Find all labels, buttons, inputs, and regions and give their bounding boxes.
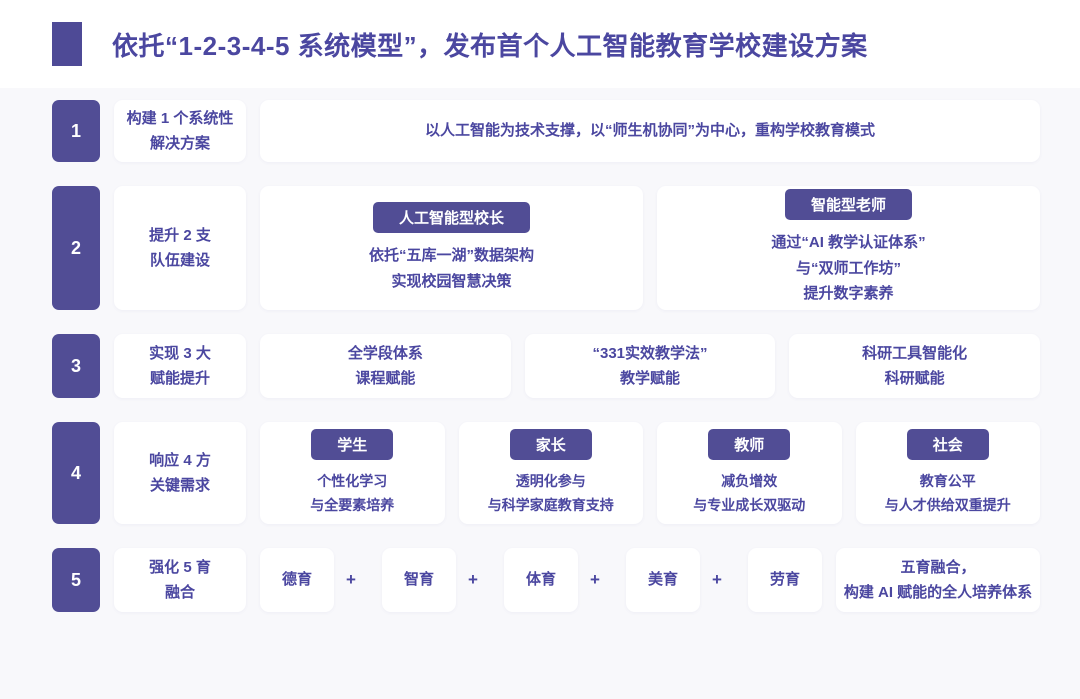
row-2-card-principal[interactable]: 人工智能型校长 依托“五库一湖”数据架构 实现校园智慧决策 [260,186,643,310]
row-number-badge-2: 2 [52,186,100,310]
plus-separator-2: + [456,548,490,612]
card-line1: 依托“五库一湖”数据架构 [369,243,534,269]
purple-square-mark-icon [52,22,82,66]
card-line1: 教育公平 [920,470,976,494]
row-1-content-card[interactable]: 以人工智能为技术支撑，以“师生机协同”为中心，重构学校教育模式 [260,100,1040,162]
page-header: 依托“1-2-3-4-5 系统模型”，发布首个人工智能教育学校建设方案 [0,0,1080,88]
row-4-card-parent[interactable]: 家长 透明化参与 与科学家庭教育支持 [459,422,644,524]
card-pill-heading: 教师 [708,429,790,460]
row-4-card-society[interactable]: 社会 教育公平 与人才供给双重提升 [856,422,1041,524]
row-label-line2: 关键需求 [150,473,210,499]
card-line2: 科研赋能 [885,366,945,392]
row-label-line2: 解决方案 [150,131,210,157]
row-2-card-teacher[interactable]: 智能型老师 通过“AI 教学认证体系” 与“双师工作坊” 提升数字素养 [657,186,1040,310]
row-number-badge-1: 1 [52,100,100,162]
item-label: 美育 [648,567,678,593]
card-line2: 与科学家庭教育支持 [488,494,614,518]
row-label-card-2[interactable]: 提升 2 支 队伍建设 [114,186,246,310]
item-label: 体育 [526,567,556,593]
row-label-line1: 构建 1 个系统性 [127,106,234,132]
row-label-line1: 响应 4 方 [149,448,211,474]
model-row-3: 3 实现 3 大 赋能提升 全学段体系 课程赋能 “331实效教学法” 教学赋能… [52,322,1040,410]
card-pill-heading: 智能型老师 [785,189,912,220]
card-line1: 透明化参与 [516,470,586,494]
card-line2: 与“双师工作坊” [796,256,901,282]
model-rows: 1 构建 1 个系统性 解决方案 以人工智能为技术支撑，以“师生机协同”为中心，… [0,88,1080,624]
card-pill-heading: 学生 [311,429,393,460]
row-label-card-4[interactable]: 响应 4 方 关键需求 [114,422,246,524]
row-label-card-3[interactable]: 实现 3 大 赋能提升 [114,334,246,398]
page-title: 依托“1-2-3-4-5 系统模型”，发布首个人工智能教育学校建设方案 [112,26,868,63]
card-line3: 提升数字素养 [803,281,893,307]
item-label: 智育 [404,567,434,593]
card-line2: 与人才供给双重提升 [885,494,1011,518]
row-5-item-moral[interactable]: 德育 [260,548,334,612]
row-4-card-teacher[interactable]: 教师 减负增效 与专业成长双驱动 [657,422,842,524]
row-5-item-intellectual[interactable]: 智育 [382,548,456,612]
row-3-card-teaching[interactable]: “331实效教学法” 教学赋能 [525,334,776,398]
item-label: 劳育 [770,567,800,593]
item-label: 德育 [282,567,312,593]
card-line2: 与全要素培养 [310,494,394,518]
card-line1: 减负增效 [721,470,777,494]
card-line2: 教学赋能 [620,366,680,392]
card-pill-heading: 人工智能型校长 [373,202,530,233]
card-line2: 实现校园智慧决策 [391,269,511,295]
row-5-item-labor[interactable]: 劳育 [748,548,822,612]
row-number-badge-4: 4 [52,422,100,524]
card-pill-heading: 社会 [907,429,989,460]
row-3-card-research[interactable]: 科研工具智能化 科研赋能 [789,334,1040,398]
row-3-card-curriculum[interactable]: 全学段体系 课程赋能 [260,334,511,398]
summary-line1: 五育融合， [900,555,975,581]
row-4-card-student[interactable]: 学生 个性化学习 与全要素培养 [260,422,445,524]
card-line1: 全学段体系 [348,341,423,367]
row-label-card-5[interactable]: 强化 5 育 融合 [114,548,246,612]
row-label-line1: 实现 3 大 [149,341,211,367]
card-line1: 通过“AI 教学认证体系” [771,230,925,256]
plus-separator-1: + [334,548,368,612]
summary-line2: 构建 AI 赋能的全人培养体系 [844,580,1032,606]
row-1-content-line1: 以人工智能为技术支撑，以“师生机协同”为中心，重构学校教育模式 [425,118,875,144]
card-line2: 课程赋能 [355,366,415,392]
page-root: 依托“1-2-3-4-5 系统模型”，发布首个人工智能教育学校建设方案 1 构建… [0,0,1080,699]
model-row-2: 2 提升 2 支 队伍建设 人工智能型校长 依托“五库一湖”数据架构 实现校园智… [52,174,1040,322]
row-number-badge-3: 3 [52,334,100,398]
row-5-item-aesthetic[interactable]: 美育 [626,548,700,612]
card-line2: 与专业成长双驱动 [693,494,805,518]
model-row-5: 5 强化 5 育 融合 德育 + 智育 + 体育 + 美育 [52,536,1040,624]
model-row-4: 4 响应 4 方 关键需求 学生 个性化学习 与全要素培养 家长 透明化参与 与… [52,410,1040,536]
row-5-item-physical[interactable]: 体育 [504,548,578,612]
model-row-1: 1 构建 1 个系统性 解决方案 以人工智能为技术支撑，以“师生机协同”为中心，… [52,88,1040,174]
card-line1: “331实效教学法” [592,341,707,367]
row-label-line2: 融合 [165,580,195,606]
card-line1: 科研工具智能化 [862,341,967,367]
row-label-line2: 队伍建设 [150,248,210,274]
plus-separator-3: + [578,548,612,612]
row-number-badge-5: 5 [52,548,100,612]
card-line1: 个性化学习 [317,470,387,494]
row-label-line2: 赋能提升 [150,366,210,392]
row-label-card-1[interactable]: 构建 1 个系统性 解决方案 [114,100,246,162]
plus-separator-4: + [700,548,734,612]
row-5-summary-card[interactable]: 五育融合， 构建 AI 赋能的全人培养体系 [836,548,1040,612]
card-pill-heading: 家长 [510,429,592,460]
row-label-line1: 强化 5 育 [149,555,211,581]
row-label-line1: 提升 2 支 [149,223,211,249]
